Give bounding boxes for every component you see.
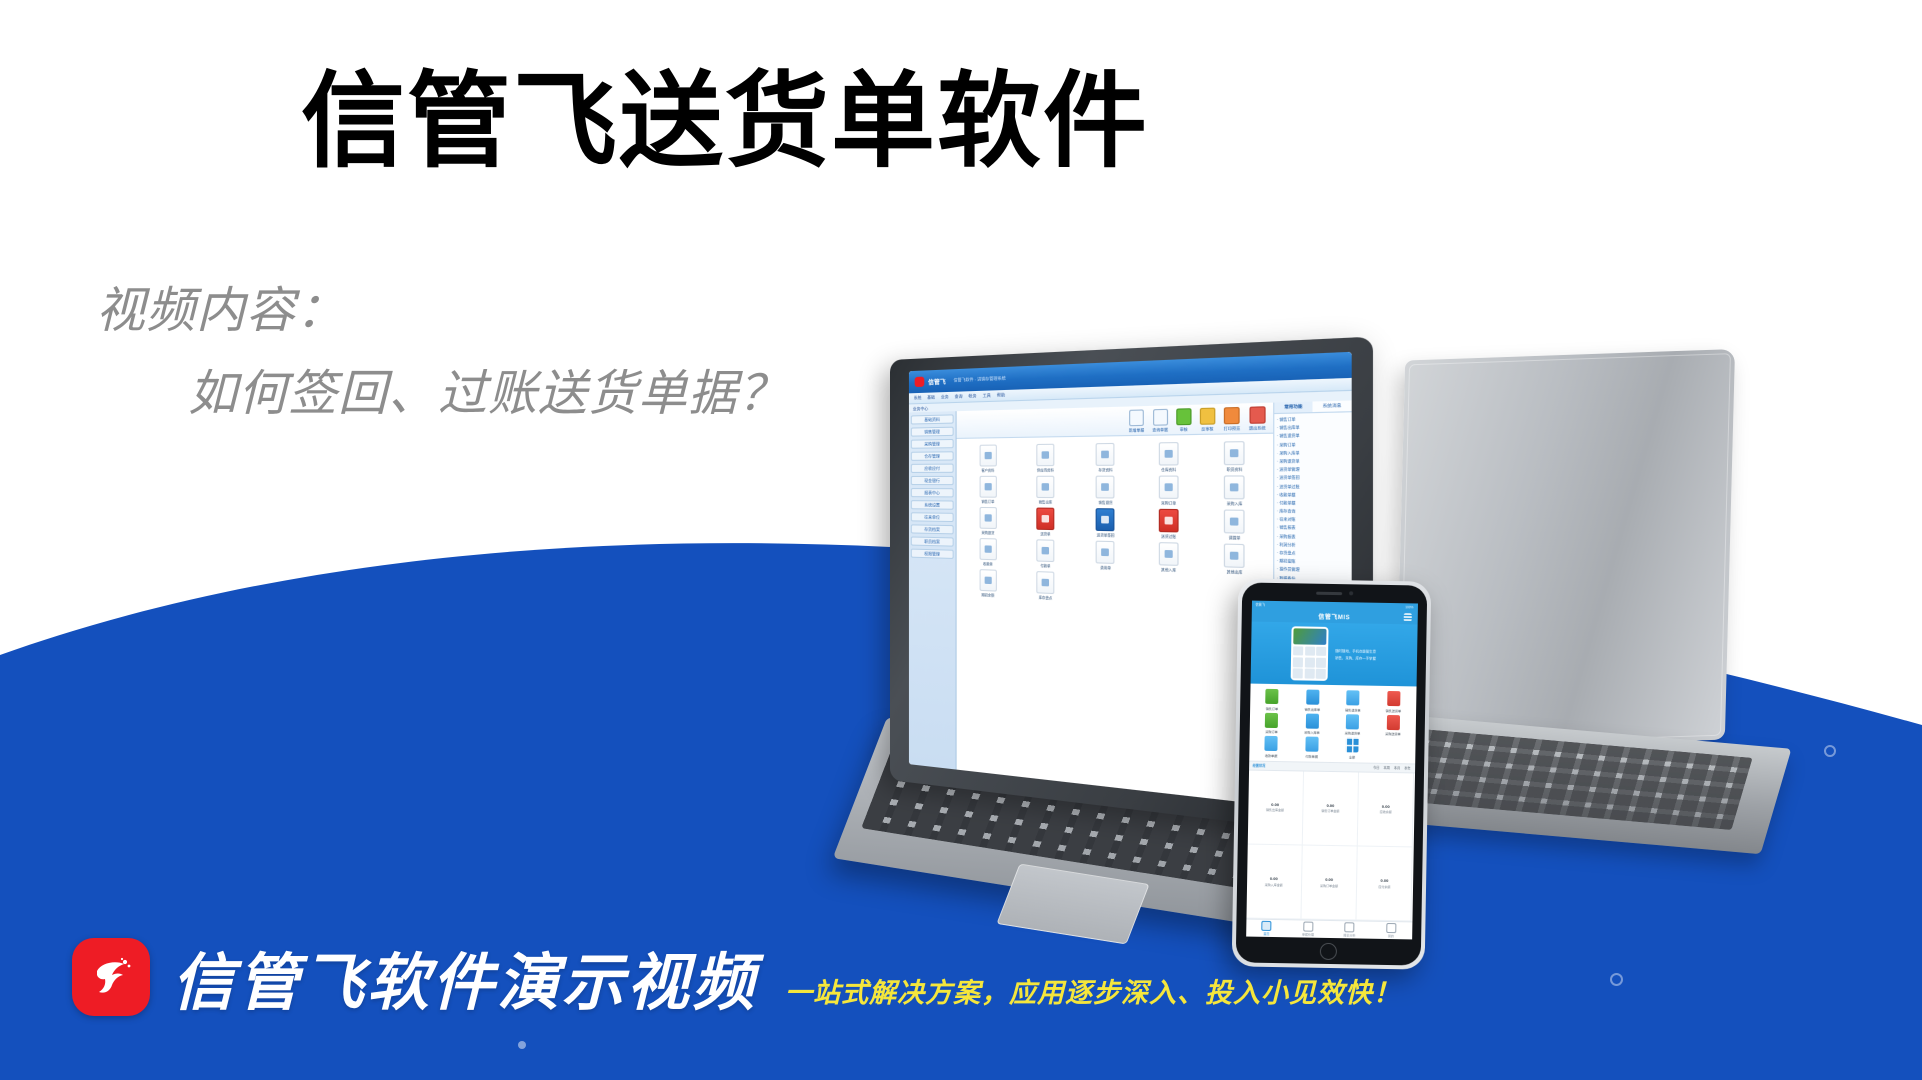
module-tile[interactable]: 费用单 [1077, 540, 1135, 571]
toolbar-button[interactable]: 反审核 [1200, 407, 1216, 431]
phone-stat-label: 采购入库金额 [1265, 882, 1283, 886]
menu-item[interactable]: 业务 [941, 394, 949, 400]
phone-stat-cell: 0.00应付余额 [1357, 846, 1414, 921]
phone-app-icon [1306, 713, 1319, 728]
phone-app-label: 销售退货单 [1345, 707, 1361, 712]
phone-app-icon [1306, 690, 1319, 705]
module-tile[interactable]: 销售出库 [1018, 476, 1074, 505]
phone-app-label: 销售订单 [1266, 705, 1278, 710]
phone-stat-label: 采购订单金额 [1320, 883, 1338, 887]
hero-line-2: 销售、采购、库存一手掌握 [1335, 655, 1376, 661]
decorative-dot-3 [518, 1041, 526, 1049]
app-sidebar[interactable]: 基础资料 销售管理 采购管理 仓存管理 应收应付 现金银行 报表中心 系统设置 … [909, 411, 957, 769]
right-panel-item[interactable]: · 采购退货单 [1277, 457, 1349, 463]
module-tile-icon [1036, 476, 1054, 498]
phone-app-tile[interactable]: 销售出库单 [1293, 689, 1332, 711]
phone-app-icon [1265, 689, 1278, 704]
module-tile-label: 调拨单 [1229, 535, 1241, 541]
phone-app-icon [1265, 712, 1278, 727]
module-tile[interactable]: 其他出库 [1203, 543, 1267, 576]
toolbar-button[interactable]: 审核 [1176, 408, 1191, 432]
module-tile-label: 客户资料 [981, 467, 994, 472]
tab-active[interactable]: 业务中心 [913, 405, 928, 412]
module-tile-icon [1036, 539, 1054, 562]
module-tile[interactable]: 送货过账 [1138, 509, 1199, 540]
module-tile-label: 销售出库 [1039, 499, 1053, 504]
phone-app-icon [1387, 714, 1400, 729]
phone-speaker [1316, 591, 1342, 594]
module-tile-icon [1224, 441, 1245, 465]
module-tile-icon [979, 476, 996, 498]
right-panel-item[interactable]: · 收款单据 [1277, 491, 1349, 497]
status-bar-left: 信管飞 [1255, 602, 1265, 607]
device-showcase-image: 信管飞 信管飞软件 - 进销存管理系统 系统 基础 业务 查询 帐务 工具 帮助 [880, 370, 1922, 1030]
right-tab-favorites[interactable]: 常用功能 [1274, 402, 1312, 413]
section-title: 经营状况 [1253, 763, 1266, 768]
subtitle-topic: 如何签回、过账送货单据？ [188, 363, 788, 424]
module-tile-label: 其他出库 [1227, 569, 1243, 575]
phone-stat-cell: 0.00销售订单金额 [1303, 771, 1360, 846]
module-tile[interactable]: 收款单 [962, 538, 1015, 568]
new-document-icon [1129, 409, 1144, 426]
sidebar-item[interactable]: 职员档案 [911, 536, 954, 546]
hamburger-menu-icon[interactable] [1403, 613, 1411, 621]
phone-app-tile[interactable]: 采购送货单 [1374, 714, 1413, 736]
section-filter[interactable]: 今日 [1373, 765, 1379, 770]
menu-item[interactable]: 基础 [927, 394, 935, 400]
phone-body: 信管飞 100% 信管飞MIS [1236, 582, 1428, 965]
phone-app-label: 付款单据 [1305, 753, 1317, 758]
sidebar-item[interactable]: 现金银行 [911, 476, 954, 485]
phone-stat-cell: 0.00应收余额 [1358, 772, 1415, 847]
module-tile-icon [1096, 541, 1115, 564]
phone-app-icon [1265, 736, 1278, 751]
phone-nav-bar: 信管飞MIS [1251, 608, 1417, 625]
footer-brand-bar: 信管飞软件演示视频 一站式解决方案，应用逐步深入、投入小见效快！ [72, 932, 1401, 1022]
print-preview-icon [1224, 406, 1240, 423]
sidebar-item[interactable]: 仓存管理 [911, 451, 954, 461]
module-tile-icon [1159, 542, 1179, 566]
hero-keypad [1293, 646, 1327, 679]
module-tile-icon [1224, 509, 1245, 533]
sidebar-item[interactable]: 应收应付 [911, 464, 954, 473]
right-panel-item[interactable]: · 付款单据 [1277, 499, 1349, 505]
phone-screen: 信管飞 100% 信管飞MIS [1246, 601, 1418, 940]
sidebar-item[interactable]: 销售管理 [911, 427, 954, 437]
module-tile[interactable]: 其他入库 [1138, 542, 1199, 574]
phone-app-icon [1305, 737, 1318, 752]
module-tile-label: 付款单 [1040, 563, 1050, 569]
phone-stat-label: 应付余额 [1378, 884, 1390, 888]
module-tile[interactable]: 销售订单 [962, 476, 1015, 504]
phone-hero-banner: 随时随地，手机也能管生意 销售、采购、库存一手掌握 [1250, 622, 1417, 687]
hero-text-block: 随时随地，手机也能管生意 销售、采购、库存一手掌握 [1335, 648, 1376, 661]
toolbar-button-label: 退出系统 [1249, 424, 1266, 430]
right-panel-item[interactable]: · 销售报表 [1277, 524, 1349, 531]
subtitle-block: 视频内容： 如何签回、过账送货单据？ [96, 280, 788, 425]
module-tile[interactable]: 采购入库 [1203, 475, 1267, 506]
home-icon [1262, 921, 1272, 931]
menu-item[interactable]: 帐务 [969, 393, 977, 399]
module-tile[interactable]: 送货单签回 [1077, 508, 1135, 538]
phone-app-tile[interactable]: 采购退货单 [1333, 714, 1372, 736]
module-tile-icon [1036, 571, 1054, 594]
module-tile-label: 职员资料 [1227, 466, 1243, 472]
toolbar-button[interactable]: 打印预览 [1224, 406, 1241, 430]
module-tile-label: 其他入库 [1161, 567, 1176, 573]
module-tile-icon [979, 507, 996, 529]
phone-app-tile[interactable]: 销售退货单 [1334, 690, 1373, 712]
right-panel-item[interactable]: · 往来对账 [1277, 516, 1349, 523]
phone-app-label: 采购送货单 [1385, 731, 1401, 736]
right-panel-item[interactable]: · 存货盘点 [1277, 549, 1349, 557]
phone-front-camera [1349, 591, 1353, 595]
module-tile-icon [1159, 442, 1179, 466]
toolbar-button-label: 查询单据 [1152, 426, 1168, 432]
phone-stat-value: 0.00 [1381, 878, 1389, 883]
sidebar-item[interactable]: 系统设置 [911, 500, 954, 510]
phone-app-label: 采购入库单 [1304, 730, 1320, 735]
toolbar-button-label: 打印预览 [1224, 425, 1241, 431]
unapprove-icon [1200, 407, 1216, 424]
xinguanfei-bird-logo-icon [85, 951, 137, 1003]
module-tile[interactable]: 销售退货 [1077, 476, 1135, 506]
right-panel-item[interactable]: · 送货单管理 [1277, 466, 1349, 472]
section-filter[interactable]: 本周 [1383, 765, 1389, 770]
sidebar-item[interactable]: 采购管理 [911, 439, 954, 449]
module-tile-label: 采购退货 [981, 530, 994, 535]
module-tile-label: 期初余额 [981, 592, 994, 598]
phone-app-tile[interactable]: 采购入库单 [1293, 713, 1332, 735]
module-tile[interactable]: 期初余额 [962, 568, 1015, 598]
phone-app-tile[interactable]: 销售送货单 [1374, 691, 1413, 713]
phone-stat-label: 销售出库金额 [1266, 808, 1284, 812]
module-tile-icon [979, 569, 996, 592]
sidebar-item[interactable]: 存货档案 [911, 524, 954, 534]
module-tile[interactable]: 调拨单 [1203, 509, 1267, 541]
phone-app-label: 销售出库单 [1305, 706, 1321, 711]
module-tile-label: 库存盘点 [1039, 594, 1053, 600]
module-tile-icon [1159, 476, 1179, 499]
module-tile-label: 采购订单 [1161, 500, 1176, 506]
phone-stat-cell: 0.00采购订单金额 [1301, 845, 1358, 920]
module-tile[interactable]: 采购退货 [962, 507, 1015, 536]
phone-nav-title: 信管飞MIS [1318, 611, 1350, 621]
module-tile-label: 送货单签回 [1097, 532, 1115, 538]
phone-app-icon [1346, 690, 1359, 705]
toolbar-button[interactable]: 查询单据 [1152, 408, 1168, 432]
phone-stat-value: 0.00 [1270, 876, 1278, 881]
module-tile-icon [1036, 508, 1054, 531]
phone-stat-value: 0.00 [1382, 804, 1390, 809]
right-tab-messages[interactable]: 系统消息 [1312, 400, 1351, 412]
app-main-panel: 新增单据 查询单据 审核 [957, 403, 1274, 806]
section-filter[interactable]: 本月 [1394, 765, 1400, 770]
approve-icon [1176, 408, 1191, 425]
module-tile[interactable]: 库存盘点 [1018, 570, 1074, 601]
module-tile-label: 仓库资料 [1161, 467, 1176, 473]
phone-stat-value: 0.00 [1325, 877, 1333, 882]
right-panel-item[interactable]: · 期初建账 [1277, 558, 1349, 566]
module-tile[interactable]: 送货单 [1018, 507, 1074, 537]
subtitle-label: 视频内容： [96, 280, 788, 341]
module-tile-label: 送货过账 [1161, 533, 1176, 539]
module-tile-label: 采购入库 [1227, 500, 1243, 506]
module-tile[interactable]: 采购订单 [1138, 475, 1199, 505]
phone-stat-cell: 0.00销售出库金额 [1247, 770, 1304, 845]
right-panel-item[interactable]: · 利润分析 [1277, 541, 1349, 548]
phone-app-label: 采购退货单 [1345, 730, 1361, 735]
module-tile[interactable]: 客户资料 [962, 444, 1015, 473]
phone-stat-value: 0.00 [1327, 803, 1335, 808]
phone-app-label: 采购订单 [1265, 729, 1277, 734]
phone-stat-cell: 0.00采购入库金额 [1246, 844, 1303, 919]
slide-canvas: 信管飞送货单软件 视频内容： 如何签回、过账送货单据？ 信管飞 信管飞软件 - [0, 0, 1922, 1080]
module-tile-label: 费用单 [1100, 565, 1111, 571]
phone-app-label: 收款单据 [1265, 752, 1277, 757]
sidebar-item[interactable]: 报表中心 [911, 488, 954, 497]
exit-icon [1249, 406, 1265, 424]
module-tile-label: 销售订单 [981, 499, 994, 504]
search-document-icon [1153, 408, 1168, 425]
phone-app-tile[interactable]: 收款单据 [1252, 736, 1291, 758]
toolbar-button-label: 反审核 [1201, 425, 1213, 431]
module-tile-icon [1096, 443, 1115, 466]
phone-app-label: 销售送货单 [1386, 707, 1402, 712]
right-panel-item[interactable]: · 销售出库单 [1277, 423, 1349, 430]
module-tile-icon [1036, 444, 1054, 466]
module-tile-icon [1224, 475, 1245, 499]
menu-item[interactable]: 系统 [914, 395, 922, 401]
section-filters[interactable]: 今日本周本月本年 [1373, 765, 1411, 771]
module-tile-icon [979, 445, 996, 467]
right-panel-item[interactable]: · 采购报表 [1277, 533, 1349, 540]
module-tile-label: 送货单 [1040, 531, 1050, 537]
module-tile-icon [979, 538, 996, 560]
phone-app-tile[interactable]: 全部 [1333, 737, 1372, 759]
module-tile-icon [1224, 544, 1245, 568]
phone-app-label: 全部 [1349, 754, 1355, 759]
brand-name: 信管飞软件演示视频 [172, 932, 757, 1022]
phone-app-icon [1346, 737, 1359, 752]
app-logo-icon [915, 377, 925, 387]
phone-stats-grid: 0.00销售出库金额0.00销售订单金额0.00应收余额0.00采购入库金额0.… [1246, 770, 1415, 921]
rear-laptop-lid [1395, 349, 1735, 751]
sidebar-item[interactable]: 基础资料 [911, 414, 954, 424]
right-panel-item[interactable]: · 销售订单 [1277, 415, 1349, 422]
right-panel-item[interactable]: · 销售退货单 [1277, 432, 1349, 439]
toolbar-button-label: 新增单据 [1129, 426, 1144, 432]
sidebar-item[interactable]: 往来单位 [911, 512, 954, 522]
sidebar-item[interactable]: 权限管理 [911, 549, 954, 559]
phone-app-tile[interactable]: 采购订单 [1252, 712, 1291, 734]
module-tile-label: 销售退货 [1098, 500, 1112, 506]
module-tile-label: 收款单 [983, 561, 993, 567]
toolbar-button[interactable]: 退出系统 [1249, 406, 1266, 430]
app-title-subtitle: 信管飞软件 - 进销存管理系统 [954, 375, 1006, 383]
right-panel-item[interactable]: · 库存查询 [1277, 508, 1349, 515]
hero-line-1: 随时随地，手机也能管生意 [1335, 648, 1376, 654]
module-tile[interactable]: 仓库资料 [1138, 442, 1199, 473]
right-panel-item[interactable]: · 送货单过账 [1277, 483, 1349, 489]
brand-logo [72, 938, 150, 1016]
app-module-grid: 客户资料供应商资料存货资料仓库资料职员资料销售订单销售出库销售退货采购订单采购入… [957, 434, 1274, 806]
menu-item[interactable]: 帮助 [997, 392, 1005, 399]
module-tile[interactable]: 职员资料 [1203, 441, 1267, 472]
phone-stat-label: 销售订单金额 [1321, 809, 1339, 813]
right-panel-item[interactable]: · 采购入库单 [1277, 449, 1349, 456]
module-tile[interactable]: 供应商资料 [1018, 443, 1074, 472]
app-logo-text: 信管飞 [928, 376, 946, 386]
section-filter[interactable]: 本年 [1404, 765, 1410, 770]
hero-device-illustration [1291, 626, 1329, 681]
right-panel-item[interactable]: · 采购订单 [1277, 440, 1349, 447]
brand-tagline: 一站式解决方案，应用逐步深入、投入小见效快！ [785, 971, 1401, 1010]
toolbar-button-label: 审核 [1180, 426, 1188, 432]
phone-app-tile[interactable]: 销售订单 [1253, 689, 1292, 711]
phone-app-icon [1387, 691, 1400, 706]
menu-item[interactable]: 查询 [955, 394, 963, 400]
phone-app-icon [1346, 714, 1359, 729]
chart-icon [1344, 922, 1354, 932]
page-title: 信管飞送货单软件 [0, 60, 1450, 183]
phone-app-grid: 销售订单销售出库单销售退货单销售送货单采购订单采购入库单采购退货单采购送货单收款… [1249, 684, 1416, 763]
hero-image-thumb [1293, 628, 1326, 645]
module-tile[interactable]: 付款单 [1018, 539, 1074, 569]
document-icon [1303, 922, 1313, 932]
toolbar-button[interactable]: 新增单据 [1129, 409, 1144, 432]
module-tile-icon [1096, 508, 1115, 531]
module-tile-label: 供应商资料 [1037, 467, 1054, 472]
right-panel-item[interactable]: · 操作员管理 [1277, 566, 1349, 574]
status-bar-right: 100% [1405, 605, 1413, 609]
module-tile[interactable]: 存货资料 [1077, 443, 1135, 473]
phone-stat-value: 0.00 [1271, 802, 1279, 807]
phone-stat-label: 应收余额 [1380, 810, 1392, 814]
smartphone: 信管飞 100% 信管飞MIS [1232, 578, 1432, 969]
module-tile-label: 存货资料 [1098, 467, 1112, 472]
module-tile-icon [1096, 476, 1115, 499]
phone-app-tile[interactable]: 付款单据 [1292, 736, 1331, 758]
module-tile-icon [1159, 509, 1179, 533]
menu-item[interactable]: 工具 [983, 393, 991, 400]
right-panel-item[interactable]: · 送货单签回 [1277, 474, 1349, 480]
